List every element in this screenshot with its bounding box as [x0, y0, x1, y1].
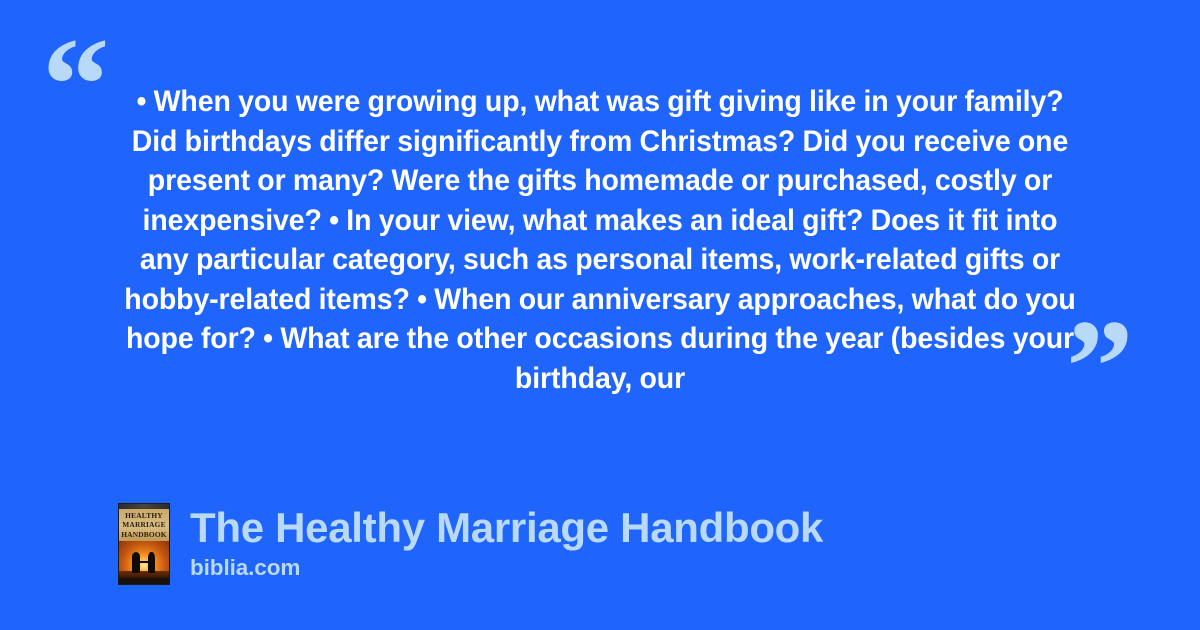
opening-quote-icon: “: [42, 18, 110, 153]
book-title: The Healthy Marriage Handbook: [190, 505, 823, 551]
cover-figure-right: [148, 552, 155, 573]
cover-sunset-scene: [119, 541, 169, 580]
cover-title-line-3: HANDBOOK: [121, 530, 167, 540]
attribution-footer: HEALTHY MARRIAGE HANDBOOK The Healthy Ma…: [118, 503, 823, 585]
quote-card: “ • When you were growing up, what was g…: [0, 0, 1200, 630]
cover-title-line-1: HEALTHY: [125, 511, 163, 521]
quote-text: • When you were growing up, what was gif…: [118, 82, 1083, 398]
book-cover-thumbnail: HEALTHY MARRIAGE HANDBOOK: [118, 503, 170, 585]
site-name: biblia.com: [190, 554, 823, 581]
closing-quote-icon: ”: [1066, 300, 1134, 435]
attribution-text-block: The Healthy Marriage Handbook biblia.com: [190, 503, 823, 581]
cover-title-panel: HEALTHY MARRIAGE HANDBOOK: [119, 509, 169, 541]
cover-bottom-strip: [119, 578, 169, 584]
cover-title-line-2: MARRIAGE: [122, 520, 165, 530]
